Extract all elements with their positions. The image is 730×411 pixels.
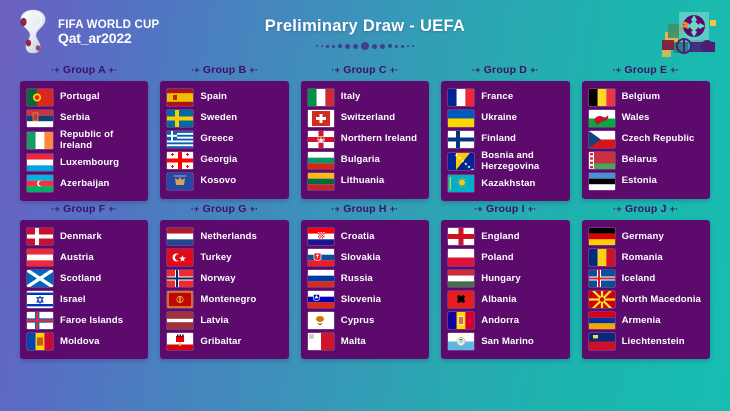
team-row[interactable]: Georgia [167,150,281,171]
team-name: Romania [622,253,663,264]
team-row[interactable]: Norway [167,268,281,289]
team-row[interactable]: Belgium [589,87,703,108]
team-name: Georgia [200,155,237,166]
decorative-dots [0,41,730,51]
hungary-flag-icon [448,270,474,287]
group-label-text: Group J [625,203,667,215]
england-flag-icon [448,228,474,245]
group-card-a: ·+ Group A +·PortugalSerbiaRepublic of I… [14,64,154,201]
team-row[interactable]: Estonia [589,171,703,192]
team-row[interactable]: Belarus [589,150,703,171]
group-panel: ItalySwitzerlandNorthern IrelandBulgaria… [301,81,429,199]
group-label-deco-left: ·+ [51,65,60,75]
team-name: Andorra [481,316,519,327]
group-label-deco-left: ·+ [51,204,60,214]
group-card-f: ·+ Group F +·DenmarkAustriaScotlandIsrae… [14,203,154,359]
northern-ireland-flag-icon [308,131,334,148]
decorative-dot [401,45,404,48]
team-name: Kosovo [200,176,236,187]
team-name: Armenia [622,316,661,327]
decorative-dot [338,44,342,48]
group-label-text: Group F [63,203,105,215]
faroe-islands-flag-icon [27,312,53,329]
team-name: Latvia [200,316,228,327]
greece-flag-icon [167,131,193,148]
group-panel: SpainSwedenGreeceGeorgiaKosovo [160,81,288,199]
team-row[interactable]: Moldova [27,331,141,352]
team-name: Norway [200,274,235,285]
team-name: Belarus [622,155,658,166]
team-row[interactable]: Switzerland [308,108,422,129]
group-label-deco-right: +· [670,65,679,75]
team-row[interactable]: Slovenia [308,289,422,310]
group-label-deco-right: +· [390,65,399,75]
team-name: Northern Ireland [341,134,417,145]
group-card-c: ·+ Group C +·ItalySwitzerlandNorthern Ir… [295,64,435,201]
group-card-e: ·+ Group E +·BelgiumWalesCzech RepublicB… [576,64,716,201]
croatia-flag-icon [308,228,334,245]
group-label-deco-right: +· [670,204,679,214]
austria-flag-icon [27,249,53,266]
cyprus-flag-icon [308,312,334,329]
team-row[interactable]: Portugal [27,87,141,108]
group-label-deco-left: ·+ [332,65,341,75]
team-name: North Macedonia [622,295,701,306]
kosovo-flag-icon [167,173,193,190]
norway-flag-icon [167,270,193,287]
iceland-flag-icon [589,270,615,287]
decorative-dot [395,45,398,48]
team-name: Lithuania [341,176,385,187]
czech-republic-flag-icon [589,131,615,148]
wales-flag-icon [589,110,615,127]
team-row[interactable]: England [448,226,562,247]
decorative-dot [407,45,409,47]
israel-flag-icon [27,291,53,308]
team-row[interactable]: Kazakhstan [448,173,562,194]
gibraltar-flag-icon [167,333,193,350]
moldova-flag-icon [27,333,53,350]
team-row[interactable]: San Marino [448,331,562,352]
team-row[interactable]: Albania [448,289,562,310]
group-card-b: ·+ Group B +·SpainSwedenGreeceGeorgiaKos… [154,64,294,201]
team-row[interactable]: Israel [27,289,141,310]
montenegro-flag-icon [167,291,193,308]
team-name: Estonia [622,176,657,187]
team-row[interactable]: Gribaltar [167,331,281,352]
kazakhstan-flag-icon [448,175,474,192]
team-row[interactable]: Italy [308,87,422,108]
georgia-flag-icon [167,152,193,169]
switzerland-flag-icon [308,110,334,127]
romania-flag-icon [589,249,615,266]
armenia-flag-icon [589,312,615,329]
albania-flag-icon [448,291,474,308]
malta-flag-icon [308,333,334,350]
netherlands-flag-icon [167,228,193,245]
spain-flag-icon [167,89,193,106]
italy-flag-icon [308,89,334,106]
azerbaijan-flag-icon [27,175,53,192]
team-name: Albania [481,295,516,306]
denmark-flag-icon [27,228,53,245]
republic-of-ireland-flag-icon [27,132,53,149]
team-row[interactable]: Ukraine [448,108,562,129]
team-row[interactable]: Andorra [448,310,562,331]
team-row[interactable]: Liechtenstein [589,331,703,352]
team-row[interactable]: Romania [589,247,703,268]
team-name: Bulgaria [341,155,380,166]
finland-flag-icon [448,131,474,148]
decorative-dot [345,44,350,49]
team-row[interactable]: Poland [448,247,562,268]
team-name: Gribaltar [200,337,241,348]
team-row[interactable]: Denmark [27,226,141,247]
team-name: Hungary [481,274,521,285]
team-row[interactable]: Malta [308,331,422,352]
team-row[interactable]: Bulgaria [308,150,422,171]
team-name: San Marino [481,337,534,348]
team-row[interactable]: Austria [27,247,141,268]
belgium-flag-icon [589,89,615,106]
team-name: Russia [341,274,373,285]
team-name: Moldova [60,337,100,348]
team-name: Italy [341,92,361,103]
group-label-text: Group I [486,203,525,215]
group-label-deco-right: +· [390,204,399,214]
group-label-deco-right: +· [108,204,117,214]
andorra-flag-icon [448,312,474,329]
team-name: Liechtenstein [622,337,685,348]
decorative-dot [332,45,335,48]
scotland-flag-icon [27,270,53,287]
group-panel: GermanyRomaniaIcelandNorth MacedoniaArme… [582,220,710,359]
team-name: Croatia [341,232,375,243]
group-panel: FranceUkraineFinlandBosnia and Herzegovi… [441,81,569,201]
team-name: Greece [200,134,233,145]
team-row[interactable]: Montenegro [167,289,281,310]
team-row[interactable]: Croatia [308,226,422,247]
group-label-deco-right: +· [528,204,537,214]
group-label: ·+ Group H +· [332,203,399,215]
team-row[interactable]: North Macedonia [589,289,703,310]
team-name: Republic of Ireland [60,130,141,151]
group-panel: PortugalSerbiaRepublic of IrelandLuxembo… [20,81,148,201]
slovakia-flag-icon [308,249,334,266]
group-label-deco-right: +· [249,65,258,75]
team-row[interactable]: Russia [308,268,422,289]
team-row[interactable]: Wales [589,108,703,129]
team-row[interactable]: Kosovo [167,171,281,192]
team-name: Germany [622,232,664,243]
decorative-dot [353,44,358,49]
lithuania-flag-icon [308,173,334,190]
decorative-dot [361,42,369,50]
poland-flag-icon [448,249,474,266]
group-label: ·+ Group J +· [613,203,678,215]
team-name: Azerbaijan [60,179,110,190]
group-label-text: Group B [203,64,246,76]
group-panel: DenmarkAustriaScotlandIsraelFaroe Island… [20,220,148,359]
team-row[interactable]: Republic of Ireland [27,129,141,152]
slovenia-flag-icon [308,291,334,308]
turkey-flag-icon [167,249,193,266]
team-row[interactable]: Germany [589,226,703,247]
group-label: ·+ Group E +· [613,64,679,76]
group-card-j: ·+ Group J +·GermanyRomaniaIcelandNorth … [576,203,716,359]
group-label: ·+ Group I +· [474,203,536,215]
serbia-flag-icon [27,110,53,127]
team-row[interactable]: Serbia [27,108,141,129]
group-label-text: Group E [624,64,667,76]
group-panel: EnglandPolandHungaryAlbaniaAndorraSan Ma… [441,220,569,359]
team-name: Turkey [200,253,231,264]
sweden-flag-icon [167,110,193,127]
team-row[interactable]: Bosnia and Herzegovina [448,150,562,173]
team-name: Switzerland [341,113,395,124]
team-name: Ukraine [481,113,517,124]
team-row[interactable]: Luxembourg [27,152,141,173]
decorative-dot [316,45,318,47]
decorative-dot [372,44,377,49]
france-flag-icon [448,89,474,106]
team-row[interactable]: Hungary [448,268,562,289]
team-row[interactable]: Armenia [589,310,703,331]
team-name: Faroe Islands [60,316,123,327]
groups-grid: ·+ Group A +·PortugalSerbiaRepublic of I… [0,64,730,359]
group-label-deco-left: ·+ [332,204,341,214]
decorative-dot [321,45,323,47]
group-card-h: ·+ Group H +·CroatiaSlovakiaRussiaSloven… [295,203,435,359]
latvia-flag-icon [167,312,193,329]
team-name: Iceland [622,274,656,285]
liechtenstein-flag-icon [589,333,615,350]
group-label-deco-left: ·+ [613,65,622,75]
san-marino-flag-icon [448,333,474,350]
group-card-g: ·+ Group G +·NetherlandsTurkeyNorwayMont… [154,203,294,359]
group-label: ·+ Group G +· [191,203,259,215]
team-name: Netherlands [200,232,257,243]
group-label-deco-left: ·+ [191,65,200,75]
team-row[interactable]: Slovakia [308,247,422,268]
group-card-d: ·+ Group D +·FranceUkraineFinlandBosnia … [435,64,575,201]
group-label: ·+ Group C +· [332,64,399,76]
team-row[interactable]: Netherlands [167,226,281,247]
decorative-dot [412,45,414,47]
team-name: Slovakia [341,253,381,264]
group-label: ·+ Group A +· [51,64,117,76]
team-row[interactable]: Finland [448,129,562,150]
team-name: Bosnia and Herzegovina [481,151,562,172]
team-name: Denmark [60,232,102,243]
team-name: Poland [481,253,514,264]
group-label-deco-right: +· [109,65,118,75]
group-label-text: Group A [63,64,106,76]
qatar-2022-pattern-icon [660,2,722,60]
team-name: Malta [341,337,366,348]
decorative-dot [326,45,329,48]
team-row[interactable]: Azerbaijan [27,173,141,194]
team-name: Israel [60,295,86,306]
team-row[interactable]: Lithuania [308,171,422,192]
team-name: Cyprus [341,316,375,327]
decorative-dot [380,44,385,49]
group-label-deco-left: ·+ [191,204,200,214]
team-name: Scotland [60,274,101,285]
page-header: FIFA WORLD CUP Qat_ar2022 Preliminary Dr… [0,0,730,64]
group-label-deco-left: ·+ [613,204,622,214]
group-label-deco-left: ·+ [472,65,481,75]
group-panel: NetherlandsTurkeyNorwayMontenegroLatviaG… [160,220,288,359]
group-label-text: Group D [484,64,527,76]
germany-flag-icon [589,228,615,245]
group-label: ·+ Group B +· [191,64,258,76]
team-name: Wales [622,113,650,124]
team-name: Montenegro [200,295,256,306]
north-macedonia-flag-icon [589,291,615,308]
team-row[interactable]: Spain [167,87,281,108]
team-row[interactable]: Scotland [27,268,141,289]
bulgaria-flag-icon [308,152,334,169]
team-name: Kazakhstan [481,179,535,190]
group-label-deco-right: +· [250,204,259,214]
group-label-deco-left: ·+ [474,204,483,214]
team-row[interactable]: Greece [167,129,281,150]
group-panel: BelgiumWalesCzech RepublicBelarusEstonia [582,81,710,199]
group-label-text: Group C [343,64,386,76]
team-row[interactable]: Cyprus [308,310,422,331]
team-name: Czech Republic [622,134,695,145]
team-row[interactable]: France [448,87,562,108]
russia-flag-icon [308,270,334,287]
group-label-text: Group G [203,203,247,215]
team-name: France [481,92,513,103]
luxembourg-flag-icon [27,154,53,171]
ukraine-flag-icon [448,110,474,127]
team-name: Sweden [200,113,237,124]
group-label: ·+ Group D +· [472,64,539,76]
team-name: Spain [200,92,227,103]
bosnia-and-herzegovina-flag-icon [448,153,474,170]
belarus-flag-icon [589,152,615,169]
team-row[interactable]: Latvia [167,310,281,331]
team-name: Slovenia [341,295,381,306]
team-name: England [481,232,520,243]
title-block: Preliminary Draw - UEFA [0,17,730,51]
decorative-dot [388,44,392,48]
team-name: Luxembourg [60,158,119,169]
team-row[interactable]: Turkey [167,247,281,268]
team-name: Belgium [622,92,661,103]
team-name: Portugal [60,92,100,103]
team-row[interactable]: Faroe Islands [27,310,141,331]
team-row[interactable]: Sweden [167,108,281,129]
team-name: Serbia [60,113,90,124]
team-row[interactable]: Iceland [589,268,703,289]
portugal-flag-icon [27,89,53,106]
group-card-i: ·+ Group I +·EnglandPolandHungaryAlbania… [435,203,575,359]
group-panel: CroatiaSlovakiaRussiaSloveniaCyprusMalta [301,220,429,359]
team-name: Finland [481,134,516,145]
estonia-flag-icon [589,173,615,190]
page-title: Preliminary Draw - UEFA [0,17,730,36]
team-row[interactable]: Northern Ireland [308,129,422,150]
group-label-text: Group H [343,203,386,215]
team-name: Austria [60,253,94,264]
group-label: ·+ Group F +· [51,203,117,215]
group-label-deco-right: +· [530,65,539,75]
team-row[interactable]: Czech Republic [589,129,703,150]
